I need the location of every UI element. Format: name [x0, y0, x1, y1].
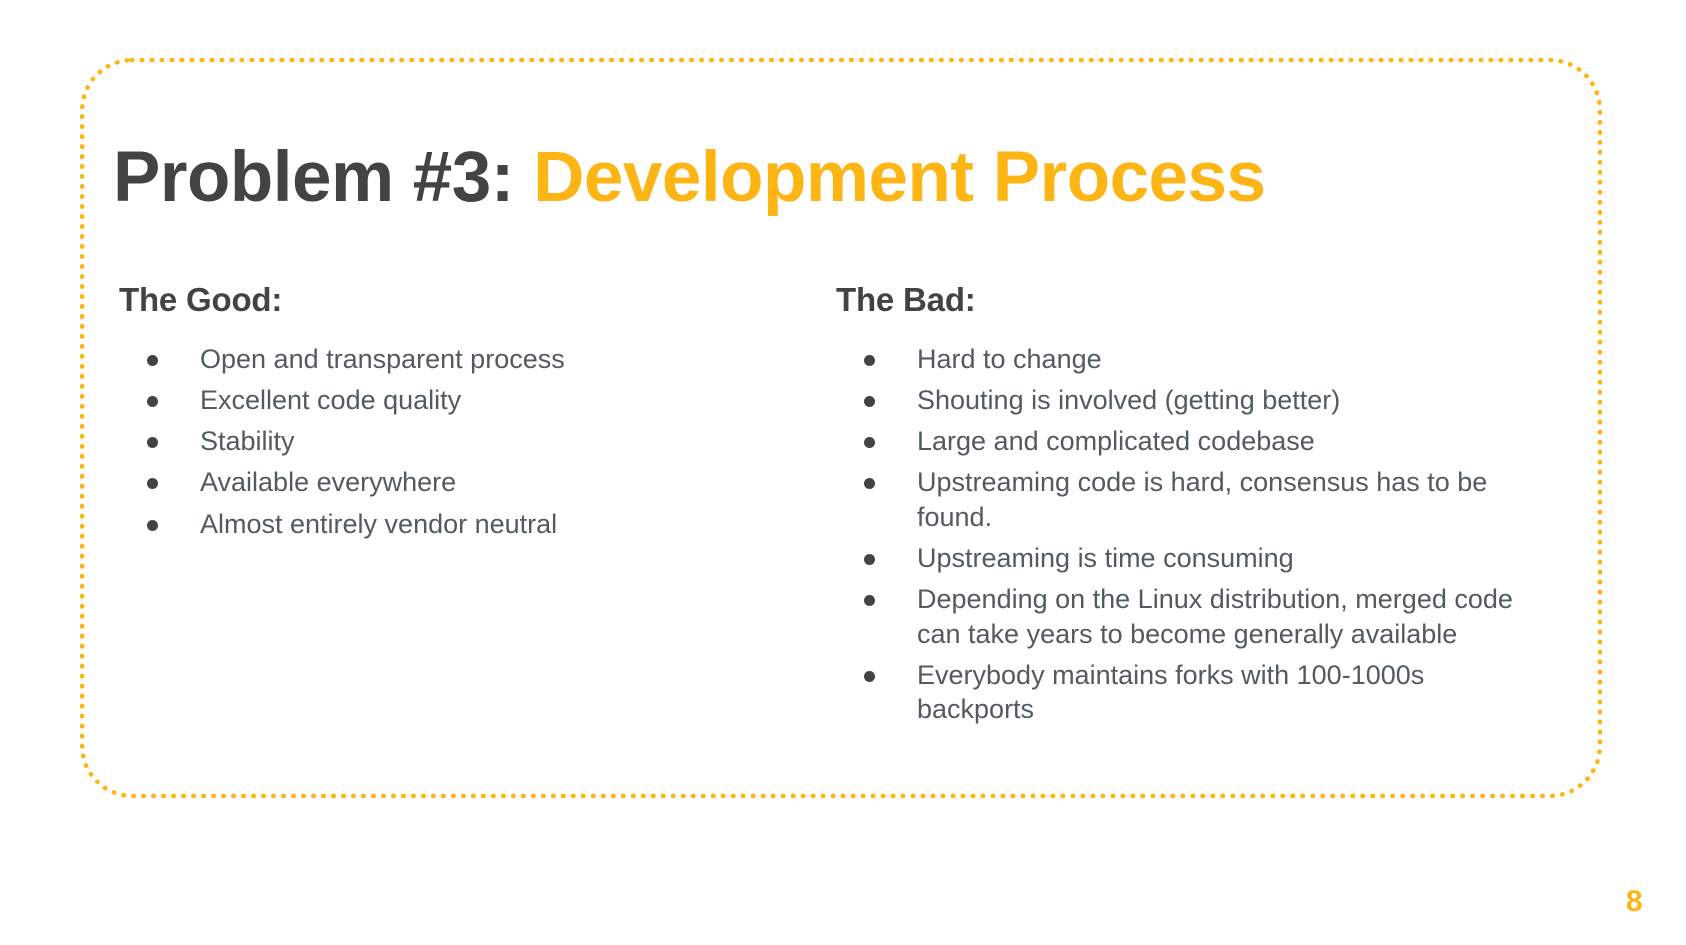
list-item-label: Excellent code quality	[200, 385, 461, 415]
page-title: Problem #3: Development Process	[113, 140, 1563, 215]
list-item-label: Everybody maintains forks with 100-1000s…	[917, 660, 1424, 724]
list-item-label: Upstreaming code is hard, consensus has …	[917, 467, 1487, 531]
bullet-dot-icon	[864, 554, 875, 565]
bullet-dot-icon	[864, 437, 875, 448]
list-item: Upstreaming code is hard, consensus has …	[836, 465, 1516, 534]
bullet-list-good: Open and transparent process Excellent c…	[119, 342, 779, 541]
list-item: Available everywhere	[119, 465, 779, 499]
list-item: Upstreaming is time consuming	[836, 541, 1516, 575]
list-item: Depending on the Linux distribution, mer…	[836, 582, 1516, 651]
column-the-good: The Good: Open and transparent process E…	[119, 280, 779, 548]
bullet-dot-icon	[147, 355, 158, 366]
slide: Problem #3: Development Process The Good…	[0, 0, 1686, 945]
list-item: Large and complicated codebase	[836, 424, 1516, 458]
list-item: Open and transparent process	[119, 342, 779, 376]
bullet-dot-icon	[147, 396, 158, 407]
list-item-label: Shouting is involved (getting better)	[917, 385, 1340, 415]
list-item-label: Stability	[200, 426, 295, 456]
list-item-label: Hard to change	[917, 344, 1102, 374]
list-item: Everybody maintains forks with 100-1000s…	[836, 658, 1516, 727]
list-item: Hard to change	[836, 342, 1516, 376]
bullet-dot-icon	[864, 478, 875, 489]
bullet-dot-icon	[147, 520, 158, 531]
list-item-label: Upstreaming is time consuming	[917, 543, 1294, 573]
list-item-label: Depending on the Linux distribution, mer…	[917, 584, 1513, 648]
page-number: 8	[1626, 885, 1643, 919]
bullet-dot-icon	[864, 355, 875, 366]
content-columns: The Good: Open and transparent process E…	[0, 280, 1686, 800]
list-item-label: Almost entirely vendor neutral	[200, 509, 557, 539]
list-item: Excellent code quality	[119, 383, 779, 417]
list-item: Almost entirely vendor neutral	[119, 507, 779, 541]
column-the-bad: The Bad: Hard to change Shouting is invo…	[836, 280, 1516, 733]
column-heading-bad: The Bad:	[836, 280, 1516, 320]
bullet-dot-icon	[864, 396, 875, 407]
list-item-label: Large and complicated codebase	[917, 426, 1315, 456]
bullet-dot-icon	[147, 478, 158, 489]
bullet-dot-icon	[864, 595, 875, 606]
list-item: Stability	[119, 424, 779, 458]
title-accent: Development Process	[533, 138, 1265, 217]
column-heading-good: The Good:	[119, 280, 779, 320]
bullet-dot-icon	[864, 671, 875, 682]
list-item: Shouting is involved (getting better)	[836, 383, 1516, 417]
title-prefix: Problem #3:	[113, 138, 514, 217]
list-item-label: Open and transparent process	[200, 344, 565, 374]
bullet-dot-icon	[147, 437, 158, 448]
bullet-list-bad: Hard to change Shouting is involved (get…	[836, 342, 1516, 727]
list-item-label: Available everywhere	[200, 467, 456, 497]
